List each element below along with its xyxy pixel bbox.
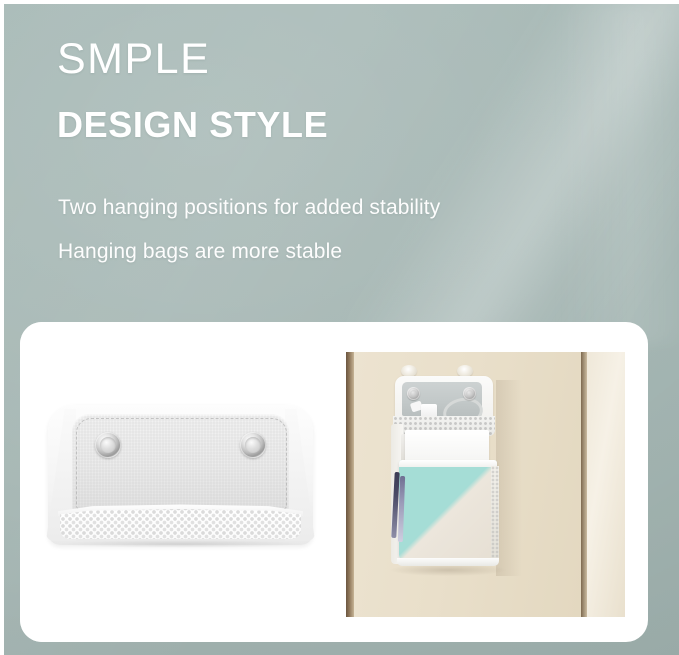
bag-front-pocket — [399, 460, 497, 560]
headline-line-2: DESIGN STYLE — [57, 107, 617, 143]
bag-pocket-base — [397, 558, 499, 566]
bag-paper-notebook — [405, 430, 489, 464]
grommet-right-icon — [240, 432, 266, 458]
grommet-left-icon — [95, 432, 121, 458]
product-photo-in-use — [346, 352, 625, 617]
bag-side-mesh — [491, 466, 499, 558]
photo-card — [20, 322, 648, 642]
bag-drop-shadow — [390, 566, 506, 576]
door-frame-edge — [346, 352, 354, 617]
product-photo-flat — [20, 322, 340, 642]
door-open-panel — [587, 352, 625, 617]
subtitle-line-2: Hanging bags are more stable — [58, 241, 638, 262]
headline-line-1: SMPLE — [57, 38, 617, 81]
product-feature-poster: SMPLE DESIGN STYLE Two hanging positions… — [0, 0, 679, 655]
organizer-drop-shadow — [56, 540, 306, 548]
organizer-product — [48, 405, 313, 545]
subtitle-block: Two hanging positions for added stabilit… — [58, 197, 638, 262]
bag-grommet-right-icon — [463, 387, 476, 400]
organizer-mesh-pocket — [60, 509, 301, 539]
subtitle-line-1: Two hanging positions for added stabilit… — [58, 197, 638, 218]
bag-pocket-rim — [399, 460, 497, 467]
headline-block: SMPLE DESIGN STYLE — [57, 38, 617, 143]
bag-grommet-left-icon — [407, 387, 420, 400]
hanging-bag — [391, 376, 501, 576]
